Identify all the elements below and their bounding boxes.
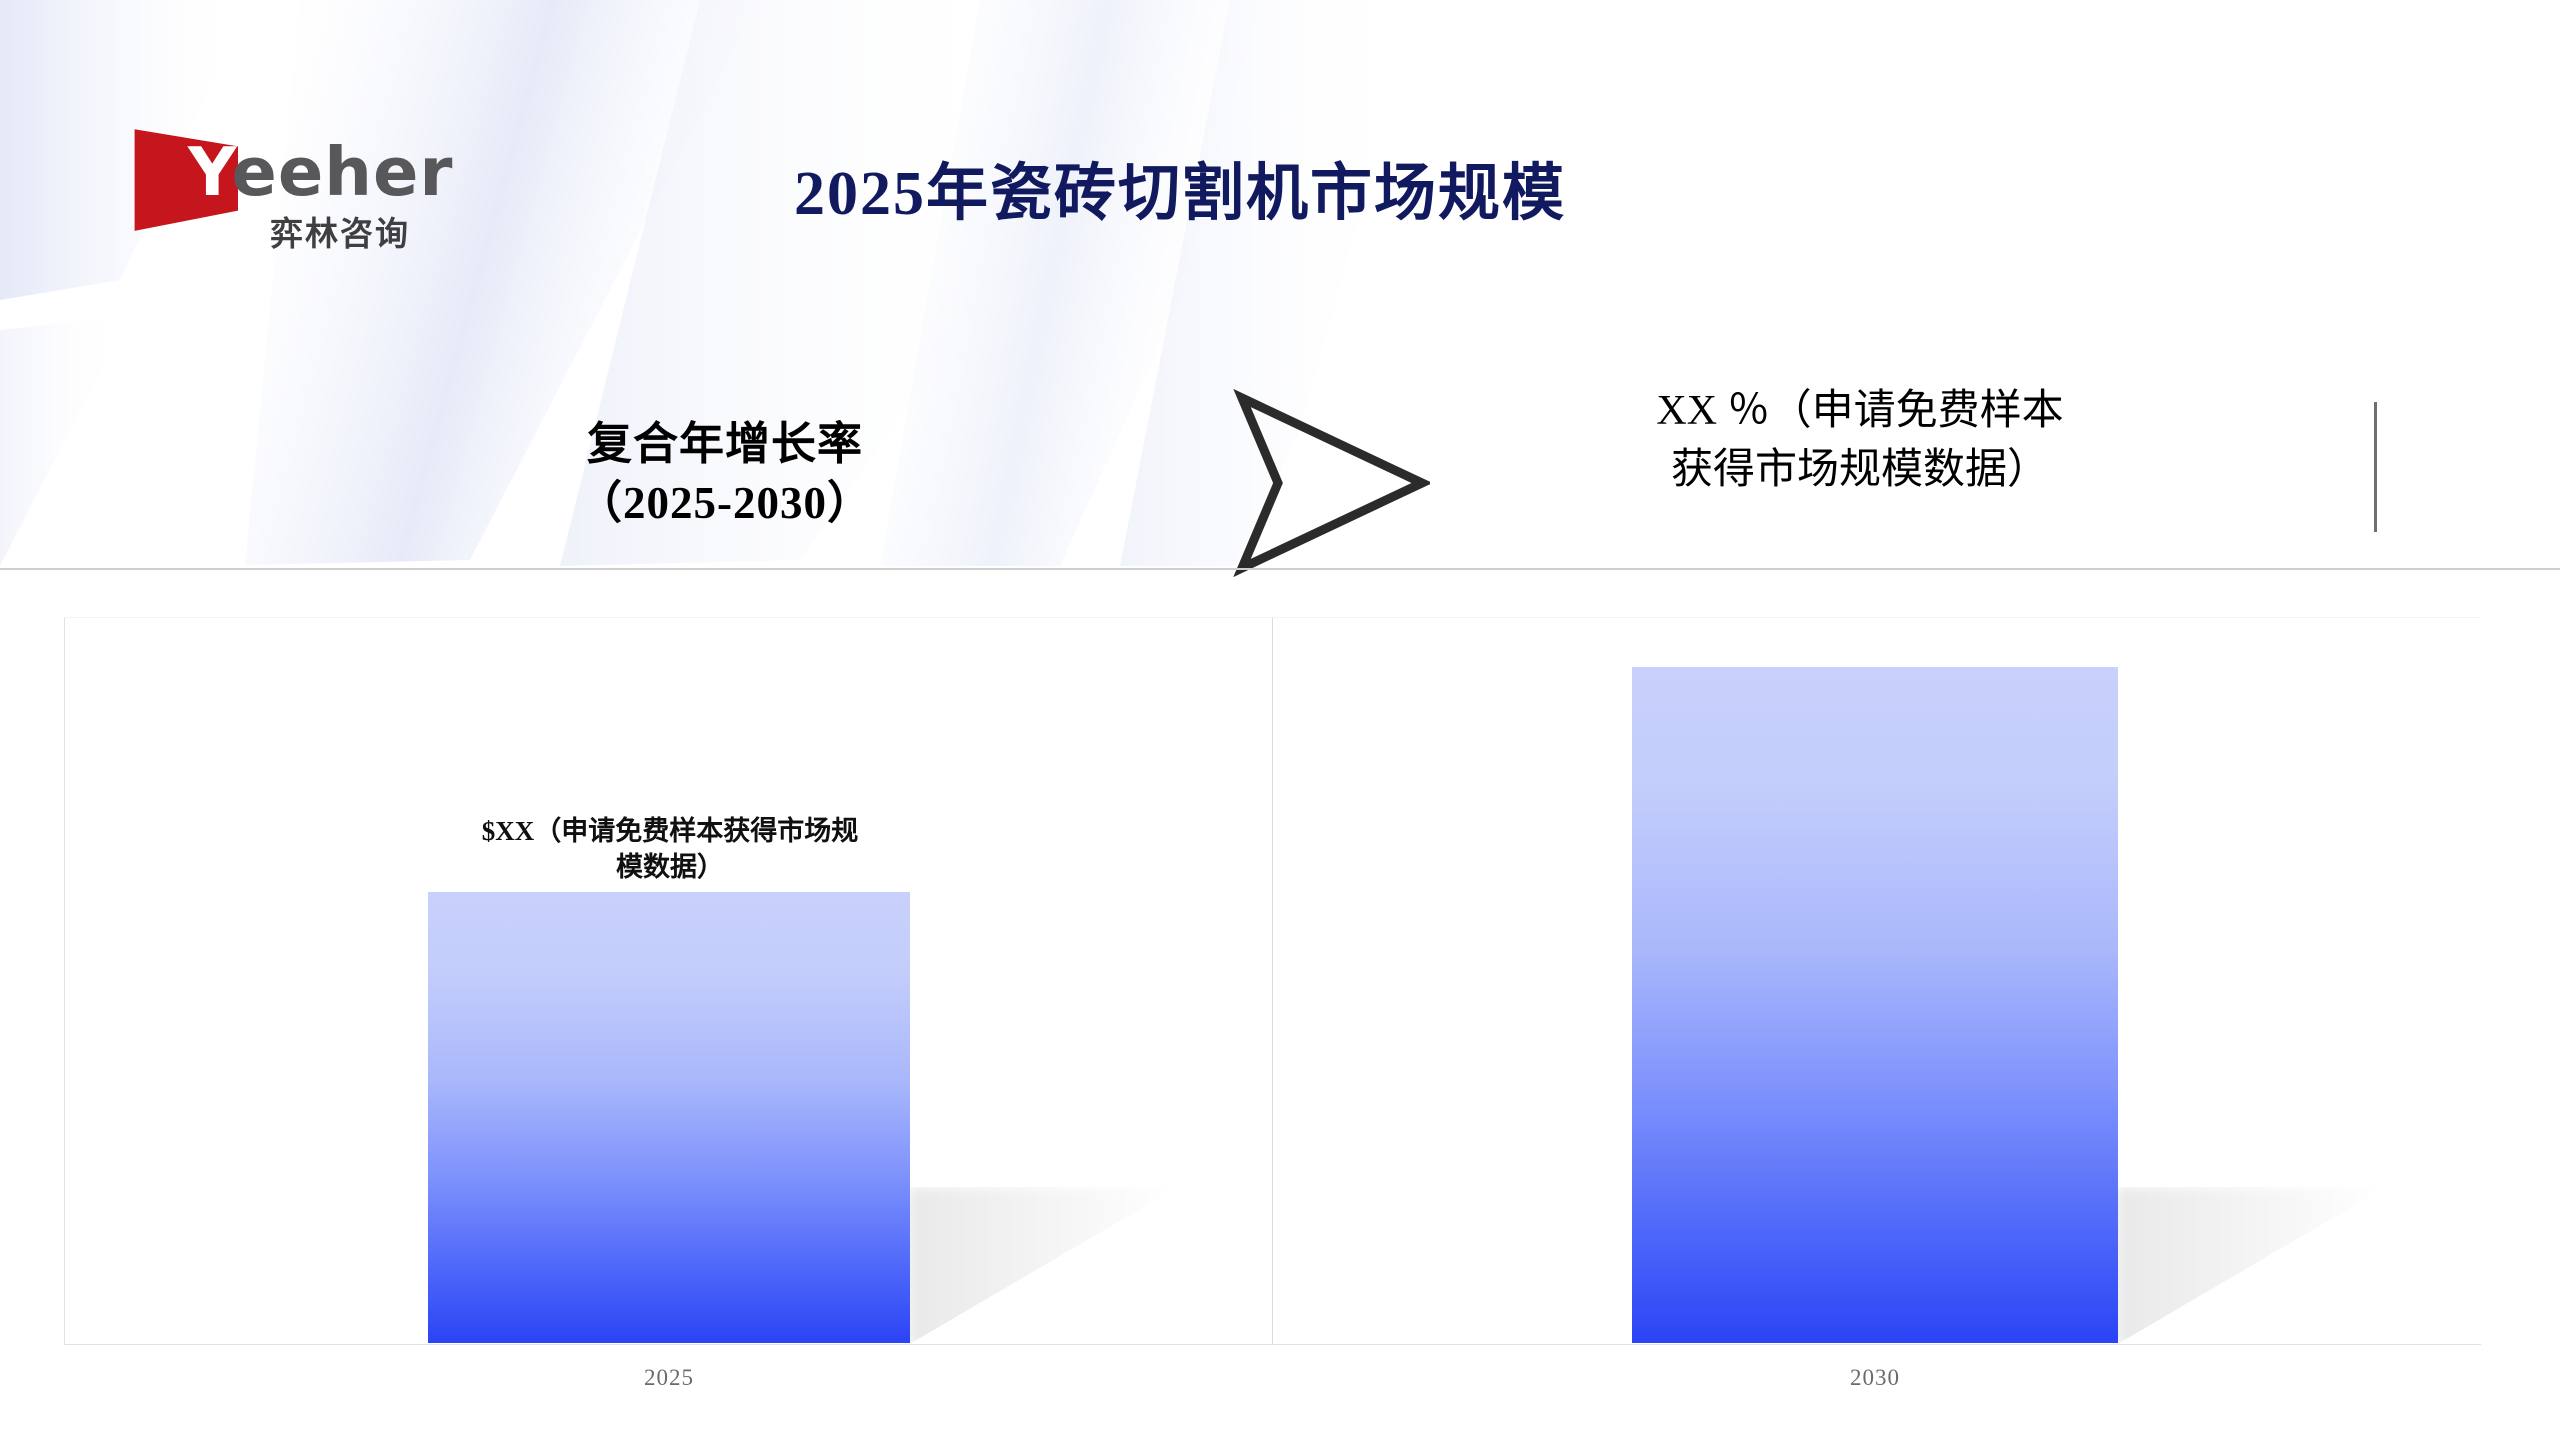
bar-2025[interactable]: [428, 892, 910, 1343]
page-title: 2025年瓷砖切割机市场规模: [650, 142, 1710, 232]
market-value-callout: XX ％（申请免费样本 获得市场规模数据）: [1600, 382, 2120, 500]
yeeher-logo: Yeeher 弈林咨询: [128, 125, 478, 235]
cagr-label-line2: （2025-2030）: [470, 474, 980, 533]
logo-word-initial: Y: [188, 133, 231, 211]
market-value-line2: 获得市场规模数据）: [1600, 441, 2120, 500]
vertical-rule-divider: [2374, 402, 2377, 532]
logo-word-rest: eeher: [231, 133, 453, 211]
market-value-line1: XX ％（申请免费样本: [1600, 382, 2120, 441]
axis-tick-2025: 2025: [569, 1365, 769, 1391]
bar-data-label-2025-line2: 模数据）: [455, 849, 885, 885]
logo-chinese-name: 弈林咨询: [270, 207, 410, 255]
bar-chart: $XX（申请免费样本获得市场规 模数据） 2025 2030: [0, 570, 2560, 1440]
logo-wordmark: Yeeher: [188, 139, 453, 206]
cagr-callout: 复合年增长率 （2025-2030）: [470, 415, 980, 534]
bar-2030[interactable]: [1632, 667, 2118, 1343]
arrow-right-outline-icon: [1230, 388, 1430, 578]
bar-data-label-2025-line1: $XX（申请免费样本获得市场规: [455, 813, 885, 849]
bar-data-label-2025: $XX（申请免费样本获得市场规 模数据）: [455, 813, 885, 886]
axis-tick-2030: 2030: [1775, 1365, 1975, 1391]
cagr-label-line1: 复合年增长率: [470, 415, 980, 474]
